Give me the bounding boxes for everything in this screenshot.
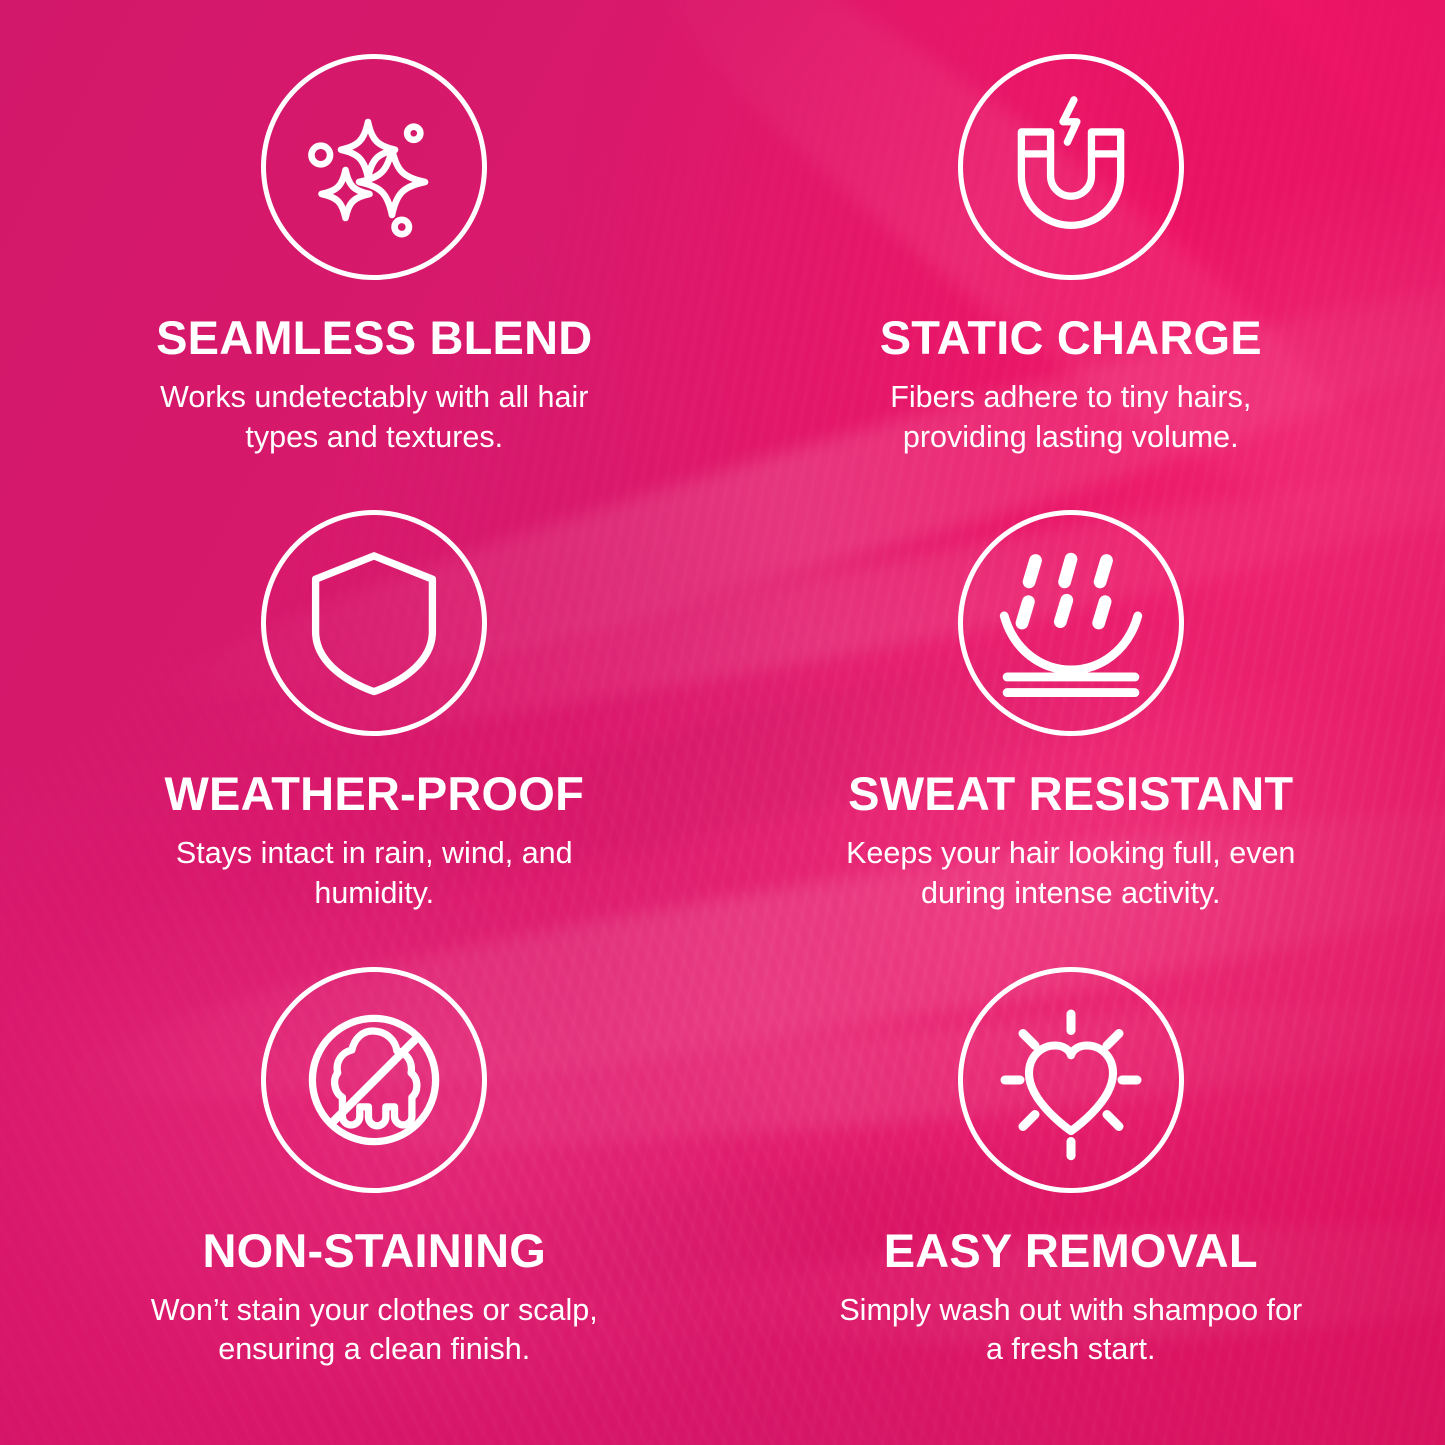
feature-title: SWEAT RESISTANT (848, 770, 1293, 817)
feature-title: SEAMLESS BLEND (156, 314, 592, 361)
feature-item-sweat-resistant: SWEAT RESISTANT Keeps your hair looking … (723, 498, 1420, 954)
feature-item-seamless-blend: SEAMLESS BLEND Works undetectably with a… (26, 42, 723, 498)
feature-description: Keeps your hair looking full, even durin… (836, 834, 1306, 913)
feature-title: EASY REMOVAL (884, 1227, 1258, 1274)
feature-item-non-staining: NON-STAINING Won’t stain your clothes or… (26, 955, 723, 1411)
shining-heart-icon (958, 967, 1184, 1193)
feature-title: WEATHER-PROOF (165, 770, 584, 817)
feature-description: Simply wash out with shampoo for a fresh… (836, 1291, 1306, 1370)
feature-item-easy-removal: EASY REMOVAL Simply wash out with shampo… (723, 955, 1420, 1411)
feature-item-weather-proof: WEATHER-PROOF Stays intact in rain, wind… (26, 498, 723, 954)
feature-description: Stays intact in rain, wind, and humidity… (139, 834, 609, 913)
magnet-icon (958, 54, 1184, 280)
feature-item-static-charge: STATIC CHARGE Fibers adhere to tiny hair… (723, 42, 1420, 498)
feature-grid: SEAMLESS BLEND Works undetectably with a… (0, 0, 1445, 1445)
feature-description: Works undetectably with all hair types a… (139, 378, 609, 457)
no-stain-icon (261, 967, 487, 1193)
feature-title: NON-STAINING (202, 1227, 546, 1274)
shield-icon (261, 510, 487, 736)
feature-description: Won’t stain your clothes or scalp, ensur… (139, 1291, 609, 1370)
infographic-canvas: SEAMLESS BLEND Works undetectably with a… (0, 0, 1445, 1445)
sparkles-icon (261, 54, 487, 280)
feature-description: Fibers adhere to tiny hairs, providing l… (836, 378, 1306, 457)
water-repellent-icon (958, 510, 1184, 736)
feature-title: STATIC CHARGE (880, 314, 1262, 361)
